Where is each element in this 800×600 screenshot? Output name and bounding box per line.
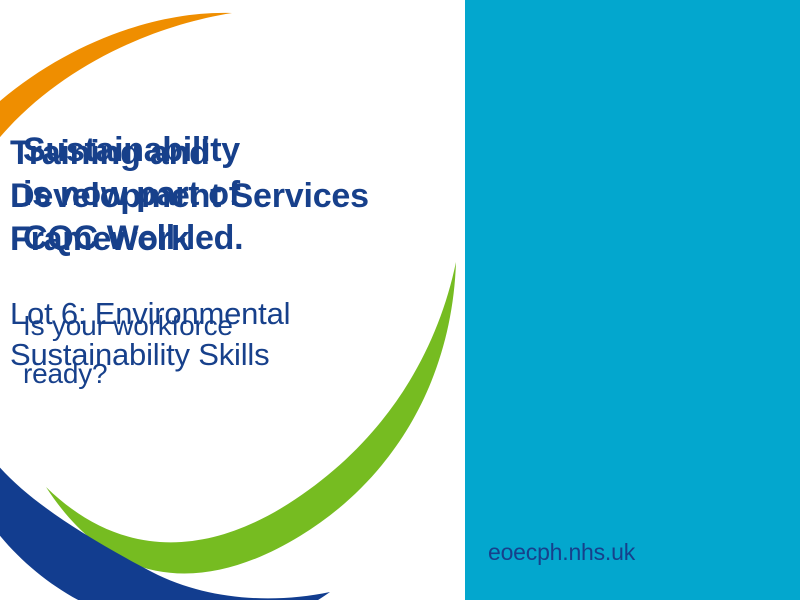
right-question: Is your workforce ready? <box>23 302 328 398</box>
right-headline: Sustainability is now part of CQC Well-l… <box>23 128 328 260</box>
website-url[interactable]: eoecph.nhs.uk <box>488 538 635 566</box>
right-headline-line-2: is now part of <box>23 175 240 213</box>
right-text-block: Sustainability is now part of CQC Well-l… <box>23 128 328 398</box>
right-headline-line-1: Sustainability <box>23 131 240 169</box>
right-question-line-2: ready? <box>23 358 107 389</box>
right-headline-line-3: CQC Well-led. <box>23 219 243 257</box>
slide-canvas: Training and Development Services Framew… <box>0 0 800 600</box>
right-cyan-panel <box>465 0 800 600</box>
right-question-line-1: Is your workforce <box>23 310 233 341</box>
